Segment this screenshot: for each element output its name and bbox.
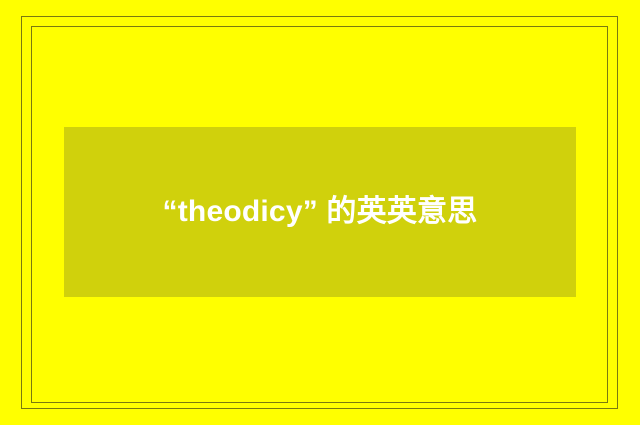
page-canvas: “theodicy” 的英英意思 xyxy=(0,0,640,425)
headline-card: “theodicy” 的英英意思 xyxy=(64,127,576,297)
page-title: “theodicy” 的英英意思 xyxy=(64,183,576,241)
